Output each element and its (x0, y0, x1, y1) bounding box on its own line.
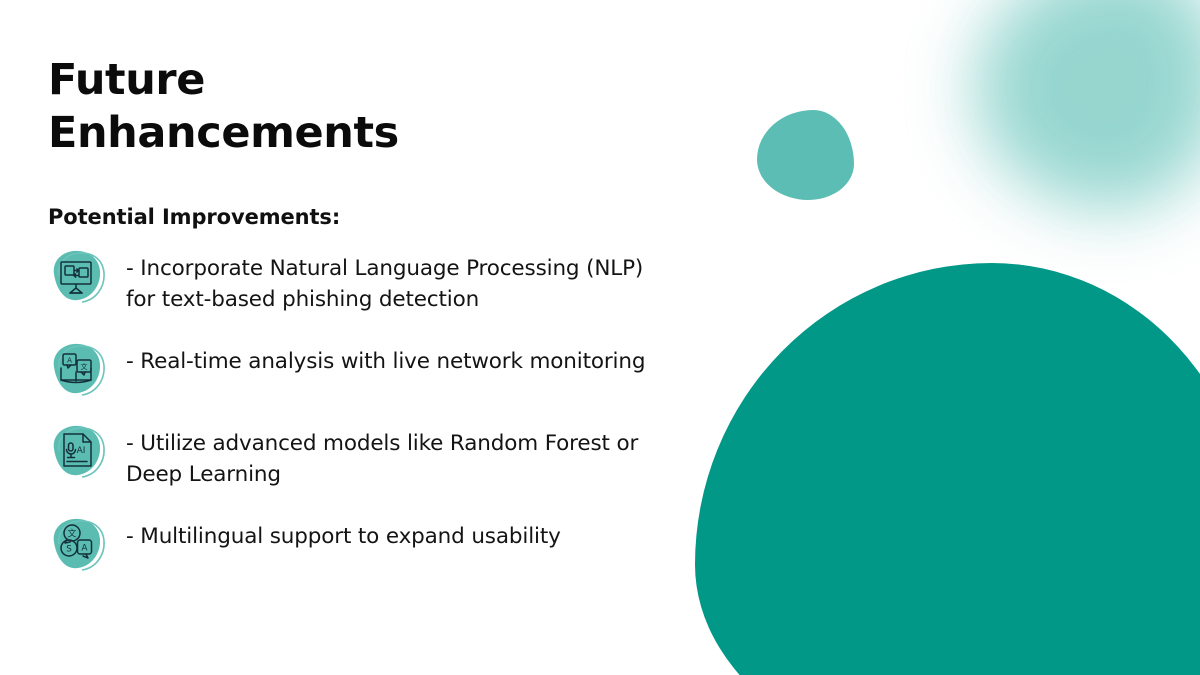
document-voice-ai-icon: AI (48, 424, 106, 480)
improvements-list: - Incorporate Natural Language Processin… (48, 247, 648, 573)
list-item: - Incorporate Natural Language Processin… (48, 247, 648, 316)
soft-blurred-teal-blob (975, 0, 1200, 210)
large-teal-blob (695, 263, 1200, 675)
book-translate-bubbles-icon: A 文 (48, 342, 106, 398)
list-item: AI - Utilize advanced models like Random… (48, 422, 648, 491)
list-item: 文 S A - Multilingual support to expand u… (48, 515, 648, 573)
page-title: Future Enhancements (48, 54, 648, 161)
list-item-text: - Incorporate Natural Language Processin… (106, 247, 648, 316)
slide-canvas: Future Enhancements Potential Improvemen… (0, 0, 1200, 675)
list-item-text: - Multilingual support to expand usabili… (106, 515, 648, 553)
svg-text:A: A (81, 544, 88, 554)
svg-text:A: A (67, 356, 72, 364)
medium-teal-blob (757, 110, 854, 200)
list-item-text: - Real-time analysis with live network m… (106, 340, 648, 378)
content-column: Future Enhancements Potential Improvemen… (48, 54, 648, 590)
svg-text:S: S (66, 545, 72, 555)
presentation-translate-icon (48, 249, 106, 305)
subheading: Potential Improvements: (48, 205, 648, 229)
svg-text:AI: AI (77, 446, 86, 456)
list-item-text: - Utilize advanced models like Random Fo… (106, 422, 648, 491)
list-item: A 文 - Real-time analysis with live netwo… (48, 340, 648, 398)
svg-text:文: 文 (67, 528, 76, 540)
svg-text:文: 文 (81, 362, 88, 371)
speech-bubbles-translate-icon: 文 S A (48, 517, 106, 573)
